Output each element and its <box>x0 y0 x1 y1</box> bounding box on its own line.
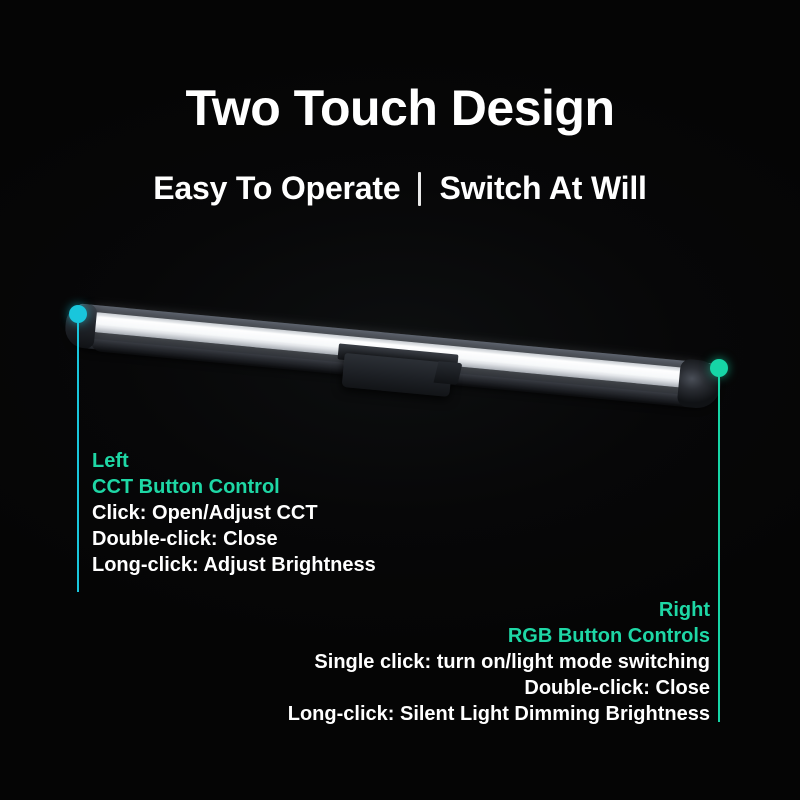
left-leader-line <box>77 314 79 592</box>
left-callout-action: Long-click: Adjust Brightness <box>92 552 376 578</box>
left-callout-action: Click: Open/Adjust CCT <box>92 500 376 526</box>
right-callout-action: Single click: turn on/light mode switchi… <box>288 649 710 675</box>
subtitle-left: Easy To Operate <box>153 170 400 207</box>
subtitle-row: Easy To Operate Switch At Will <box>0 170 800 207</box>
right-callout-action: Long-click: Silent Light Dimming Brightn… <box>288 701 710 727</box>
left-callout-control-name: CCT Button Control <box>92 474 376 500</box>
subtitle-divider-icon <box>418 172 421 206</box>
right-callout-control-name: RGB Button Controls <box>288 623 710 649</box>
page-title: Two Touch Design <box>0 82 800 135</box>
monitor-mount-foot <box>433 361 462 385</box>
subtitle-right: Switch At Will <box>439 170 646 207</box>
right-callout-side-label: Right <box>288 597 710 623</box>
right-callout-block: Right RGB Button Controls Single click: … <box>288 597 710 727</box>
right-callout-action: Double-click: Close <box>288 675 710 701</box>
infographic-canvas: Two Touch Design Easy To Operate Switch … <box>0 0 800 800</box>
left-callout-side-label: Left <box>92 448 376 474</box>
left-callout-block: Left CCT Button Control Click: Open/Adju… <box>92 448 376 578</box>
monitor-light-bar-image <box>62 292 734 402</box>
left-callout-action: Double-click: Close <box>92 526 376 552</box>
right-leader-line <box>718 368 720 722</box>
